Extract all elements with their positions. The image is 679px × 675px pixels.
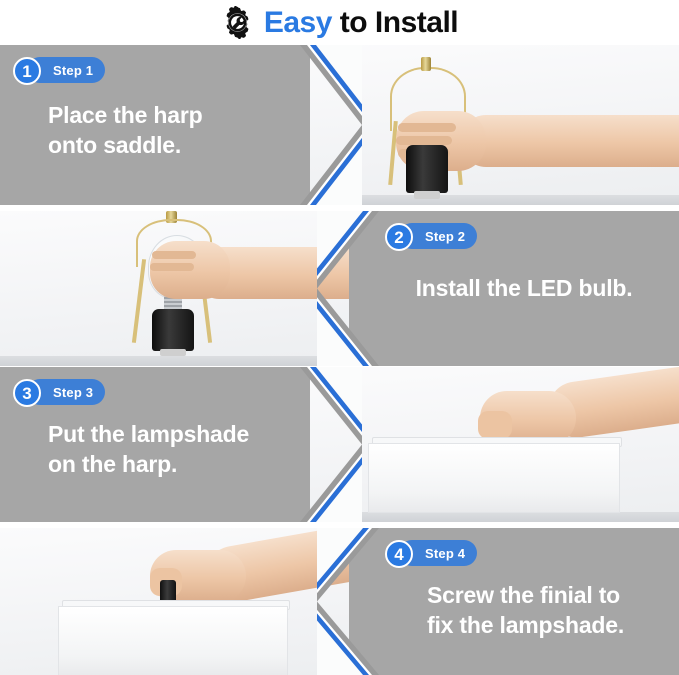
step-3-caption-line-1: Put the lampshade	[48, 419, 323, 449]
title-rest: to Install	[332, 6, 458, 39]
step-3-caption-line-2: on the harp.	[48, 449, 323, 479]
step-4-caption-line-1: Screw the finial to	[427, 580, 677, 610]
step-3-number: 3	[22, 385, 31, 402]
step-1-caption: Place the harp onto saddle.	[48, 100, 308, 161]
forearm	[460, 115, 679, 167]
title-highlight: Easy	[264, 6, 332, 39]
lamp-socket	[152, 309, 194, 351]
step-4-number: 4	[394, 546, 403, 563]
step-3-caption: Put the lampshade on the harp.	[48, 419, 323, 480]
step-1-caption-line-2: onto saddle.	[48, 130, 308, 160]
page-title: Easy to Install	[264, 8, 458, 38]
step-2-caption: Install the LED bulb.	[379, 273, 669, 303]
step-row-1: Step 1 1 Place the harp onto saddle.	[0, 45, 679, 205]
easy-to-install-infographic: Easy to Install	[0, 0, 679, 675]
saddle-screw	[421, 57, 431, 71]
gear-wrench-icon	[221, 6, 254, 39]
step-row-2: Step 2 2 Install the LED bulb.	[0, 211, 679, 366]
step-3-label: Step 3	[53, 385, 93, 400]
lampshade	[58, 606, 288, 675]
header: Easy to Install	[0, 0, 679, 45]
table-edge	[310, 512, 679, 522]
step-3-number-circle: 3	[13, 379, 41, 407]
thumb	[478, 411, 512, 439]
photo-install-led-bulb	[0, 211, 370, 366]
table-edge	[0, 356, 370, 366]
step-row-4: Step 4 4 Screw the finial to fix the lam…	[0, 528, 679, 675]
lampshade	[368, 443, 620, 513]
photo-put-lampshade-on-harp	[310, 367, 679, 522]
finger-2	[150, 263, 194, 271]
socket-base	[414, 191, 440, 199]
step-4-caption: Screw the finial to fix the lampshade.	[427, 580, 677, 641]
finger-2	[396, 136, 452, 145]
step-2-caption-line-1: Install the LED bulb.	[379, 273, 669, 303]
step-2-label: Step 2	[425, 229, 465, 244]
step-1-number: 1	[22, 63, 31, 80]
step-1-label: Step 1	[53, 63, 93, 78]
chevron-divider-1	[300, 45, 362, 205]
finger-1	[398, 123, 456, 132]
finger-1	[152, 251, 196, 259]
chevron-divider-2	[317, 211, 379, 366]
socket-base	[160, 349, 186, 356]
table-edge	[310, 195, 679, 205]
photo-screw-the-finial	[0, 528, 370, 675]
lamp-socket	[406, 145, 448, 193]
step-2-number: 2	[394, 229, 403, 246]
step-2-number-circle: 2	[385, 223, 413, 251]
chevron-divider-4	[317, 528, 379, 675]
step-row-3: Step 3 3 Put the lampshade on the harp.	[0, 367, 679, 522]
step-1-number-circle: 1	[13, 57, 41, 85]
step-4-label: Step 4	[425, 546, 465, 561]
step-4-caption-line-2: fix the lampshade.	[427, 610, 677, 640]
step-1-caption-line-1: Place the harp	[48, 100, 308, 130]
photo-harp-onto-saddle	[310, 45, 679, 205]
step-4-number-circle: 4	[385, 540, 413, 568]
